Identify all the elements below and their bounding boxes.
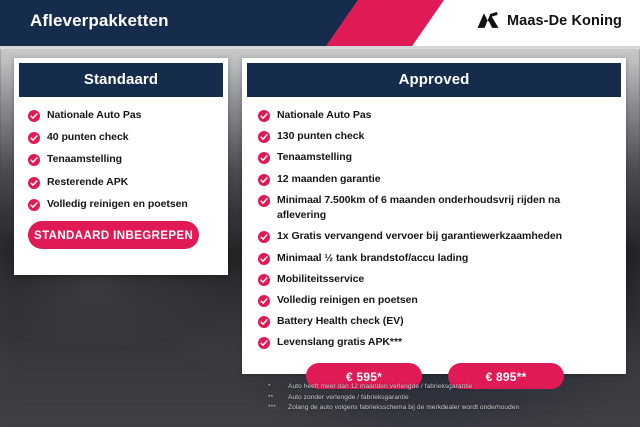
footnote-marker: *: [268, 382, 282, 393]
list-item-label: Minimaal ½ tank brandstof/accu lading: [277, 251, 468, 266]
list-item: 130 punten check: [258, 129, 612, 144]
footnote-text: Auto heeft meer dan 12 maanden verlengde…: [288, 382, 472, 393]
card-title-standaard: Standaard: [19, 63, 223, 97]
list-item: Nationale Auto Pas: [28, 108, 216, 123]
check-circle-icon: [258, 253, 270, 265]
list-item-label: 1x Gratis vervangend vervoer bij garanti…: [277, 229, 562, 244]
list-item: Tenaamstelling: [28, 152, 216, 167]
card-title-approved: Approved: [247, 63, 621, 97]
footnote-marker: ***: [268, 403, 282, 414]
footnotes: * Auto heeft meer dan 12 maanden verleng…: [268, 382, 628, 414]
list-item: Volledig reinigen en poetsen: [28, 197, 216, 212]
brand-logo: Maas-De Koning: [477, 11, 622, 31]
package-card-standaard: Standaard Nationale Auto Pas 40 punten c…: [14, 58, 228, 275]
list-item-label: Volledig reinigen en poetsen: [277, 293, 418, 308]
list-item: 12 maanden garantie: [258, 172, 612, 187]
check-circle-icon: [258, 337, 270, 349]
list-item-label: Nationale Auto Pas: [47, 108, 141, 123]
feature-list-standaard: Nationale Auto Pas 40 punten check Tenaa…: [14, 97, 228, 212]
page-title: Afleverpakketten: [30, 11, 169, 31]
list-item: Mobiliteitsservice: [258, 272, 612, 287]
footnote-item: ** Auto zonder verlengde / fabrieksgaran…: [268, 393, 628, 404]
list-item-label: Nationale Auto Pas: [277, 108, 371, 123]
check-circle-icon: [258, 295, 270, 307]
list-item: 1x Gratis vervangend vervoer bij garanti…: [258, 229, 612, 244]
list-item-label: 12 maanden garantie: [277, 172, 381, 187]
list-item: Battery Health check (EV): [258, 314, 612, 329]
list-item-label: Battery Health check (EV): [277, 314, 404, 329]
slide-canvas: Afleverpakketten Maas-De Koning Standaar…: [0, 0, 640, 427]
check-circle-icon: [28, 177, 40, 189]
footnote-marker: **: [268, 393, 282, 404]
list-item-label: 40 punten check: [47, 130, 129, 145]
list-item-label: Mobiliteitsservice: [277, 272, 364, 287]
list-item: Nationale Auto Pas: [258, 108, 612, 123]
check-circle-icon: [28, 199, 40, 211]
package-card-approved: Approved Nationale Auto Pas 130 punten c…: [242, 58, 626, 374]
feature-list-approved: Nationale Auto Pas 130 punten check Tena…: [242, 97, 626, 389]
check-circle-icon: [258, 131, 270, 143]
footnote-text: Zolang de auto volgens fabrieksschema bi…: [288, 403, 519, 414]
check-circle-icon: [258, 174, 270, 186]
list-item-label: Levenslang gratis APK***: [277, 335, 402, 350]
list-item-label: Tenaamstelling: [47, 152, 122, 167]
brand-name: Maas-De Koning: [507, 13, 622, 29]
standaard-inbegrepen-button[interactable]: STANDAARD INBEGREPEN: [28, 221, 199, 249]
check-circle-icon: [258, 152, 270, 164]
list-item: 40 punten check: [28, 130, 216, 145]
check-circle-icon: [258, 274, 270, 286]
maas-de-koning-m-logo-icon: [477, 11, 499, 31]
check-circle-icon: [258, 316, 270, 328]
check-circle-icon: [258, 195, 270, 207]
footnote-item: * Auto heeft meer dan 12 maanden verleng…: [268, 382, 628, 393]
page-header: Afleverpakketten Maas-De Koning: [0, 0, 640, 46]
footnote-item: *** Zolang de auto volgens fabrieksschem…: [268, 403, 628, 414]
check-circle-icon: [28, 132, 40, 144]
list-item: Minimaal ½ tank brandstof/accu lading: [258, 251, 612, 266]
check-circle-icon: [258, 110, 270, 122]
check-circle-icon: [258, 231, 270, 243]
list-item: Levenslang gratis APK***: [258, 335, 612, 350]
list-item-label: Tenaamstelling: [277, 150, 352, 165]
check-circle-icon: [28, 110, 40, 122]
check-circle-icon: [28, 154, 40, 166]
list-item-label: Volledig reinigen en poetsen: [47, 197, 188, 212]
footnote-text: Auto zonder verlengde / fabrieksgarantie: [288, 393, 409, 404]
list-item: Volledig reinigen en poetsen: [258, 293, 612, 308]
list-item: Minimaal 7.500km of 6 maanden onderhouds…: [258, 193, 612, 223]
list-item-label: Minimaal 7.500km of 6 maanden onderhouds…: [277, 193, 612, 223]
list-item-label: 130 punten check: [277, 129, 364, 144]
list-item: Resterende APK: [28, 175, 216, 190]
list-item-label: Resterende APK: [47, 175, 128, 190]
header-divider: [0, 46, 640, 49]
list-item: Tenaamstelling: [258, 150, 612, 165]
